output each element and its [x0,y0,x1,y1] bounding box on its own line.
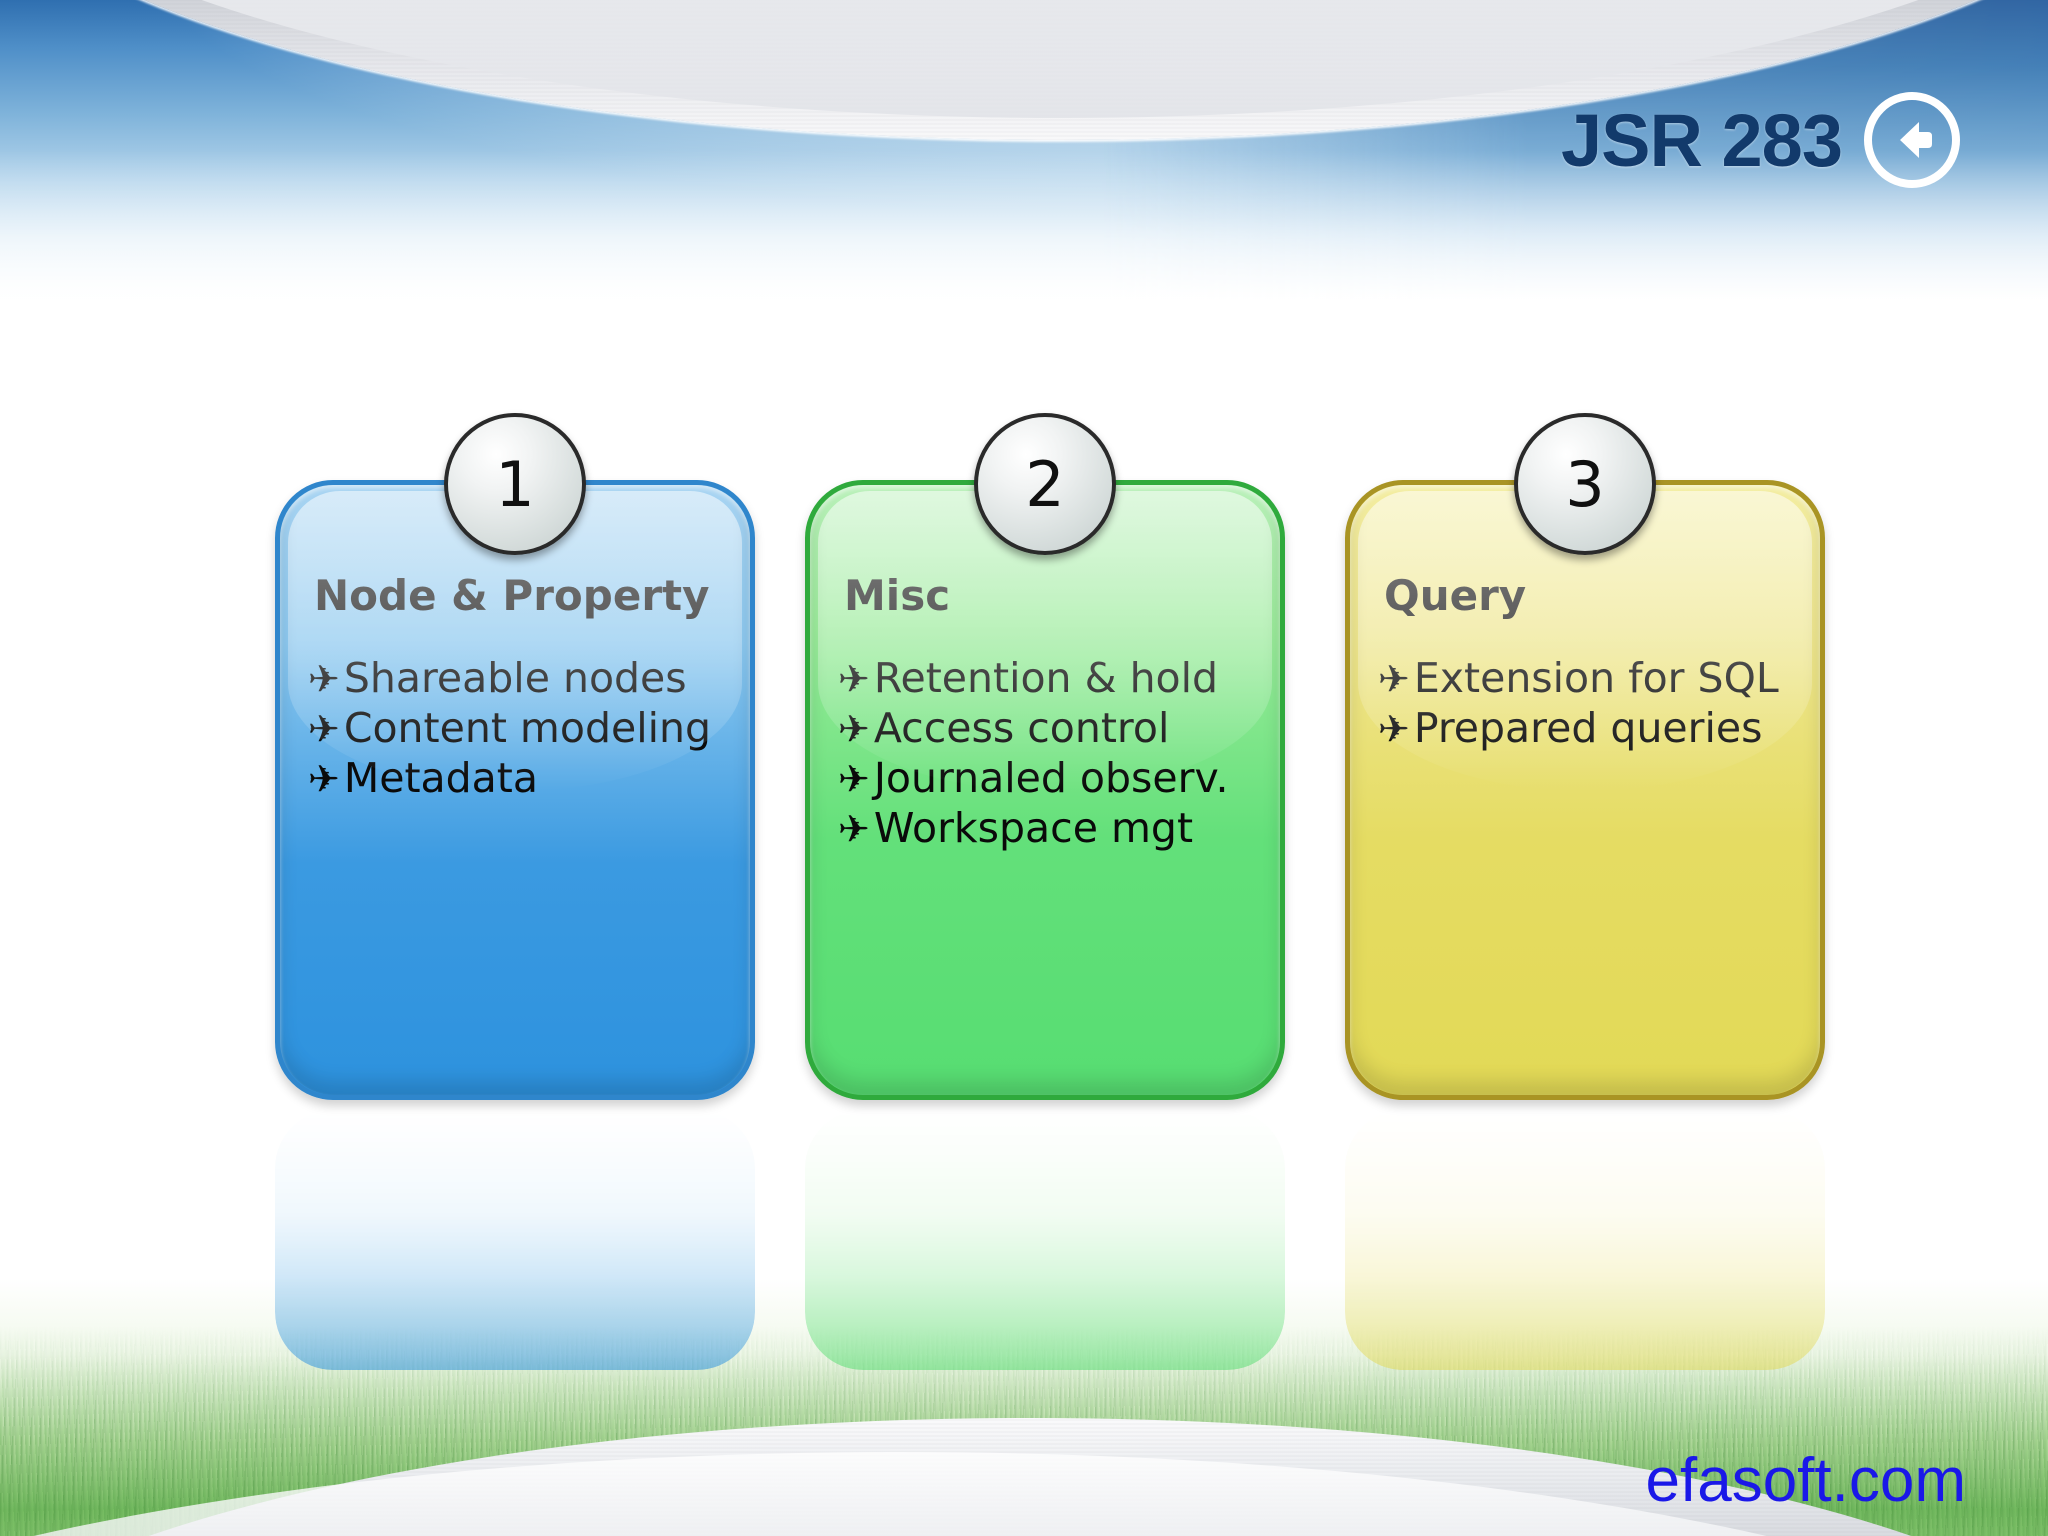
arrow-bullet-icon: ✈ [838,810,870,848]
card-slot-2: 2 Misc ✈ Retention & hold ✈ Access contr… [805,480,1285,1100]
bullet-label: Retention & hold [874,653,1218,703]
slide-canvas: JSR 283 efasoft.com 1 Node & Property ✈ [0,0,2048,1536]
card-bullet-list-3: ✈ Extension for SQL ✈ Prepared queries [1350,653,1820,753]
list-item: ✈ Workspace mgt [838,803,1262,853]
card-title-1: Node & Property [280,573,750,619]
arrow-bullet-icon: ✈ [308,710,340,748]
arrow-bullet-icon: ✈ [308,760,340,798]
card-number-badge-1: 1 [444,413,586,555]
card-query[interactable]: 3 Query ✈ Extension for SQL ✈ Prepared q… [1345,480,1825,1100]
list-item: ✈ Shareable nodes [308,653,732,703]
list-item: ✈ Metadata [308,753,732,803]
bullet-label: Extension for SQL [1414,653,1779,703]
bullet-label: Access control [874,703,1170,753]
bullet-label: Content modeling [344,703,711,753]
card-group: 1 Node & Property ✈ Shareable nodes ✈ Co… [0,0,2048,1536]
bullet-label: Journaled observ. [874,753,1229,803]
card-bullet-list-1: ✈ Shareable nodes ✈ Content modeling ✈ M… [280,653,750,803]
card-slot-1: 1 Node & Property ✈ Shareable nodes ✈ Co… [275,480,755,1100]
card-node-and-property[interactable]: 1 Node & Property ✈ Shareable nodes ✈ Co… [275,480,755,1100]
list-item: ✈ Retention & hold [838,653,1262,703]
arrow-bullet-icon: ✈ [838,710,870,748]
card-slot-3: 3 Query ✈ Extension for SQL ✈ Prepared q… [1345,480,1825,1100]
list-item: ✈ Content modeling [308,703,732,753]
arrow-bullet-icon: ✈ [838,760,870,798]
card-reflection-1 [275,1110,755,1370]
list-item: ✈ Access control [838,703,1262,753]
bullet-label: Workspace mgt [874,803,1193,853]
card-reflection-2 [805,1110,1285,1370]
card-title-2: Misc [810,573,1280,619]
card-number-badge-2: 2 [974,413,1116,555]
bullet-label: Metadata [344,753,538,803]
list-item: ✈ Prepared queries [1378,703,1802,753]
arrow-bullet-icon: ✈ [1378,660,1410,698]
card-reflection-3 [1345,1110,1825,1370]
card-misc[interactable]: 2 Misc ✈ Retention & hold ✈ Access contr… [805,480,1285,1100]
list-item: ✈ Extension for SQL [1378,653,1802,703]
card-bullet-list-2: ✈ Retention & hold ✈ Access control ✈ Jo… [810,653,1280,853]
card-title-3: Query [1350,573,1820,619]
bullet-label: Prepared queries [1414,703,1763,753]
arrow-bullet-icon: ✈ [838,660,870,698]
list-item: ✈ Journaled observ. [838,753,1262,803]
arrow-bullet-icon: ✈ [308,660,340,698]
arrow-bullet-icon: ✈ [1378,710,1410,748]
card-number-badge-3: 3 [1514,413,1656,555]
bullet-label: Shareable nodes [344,653,687,703]
